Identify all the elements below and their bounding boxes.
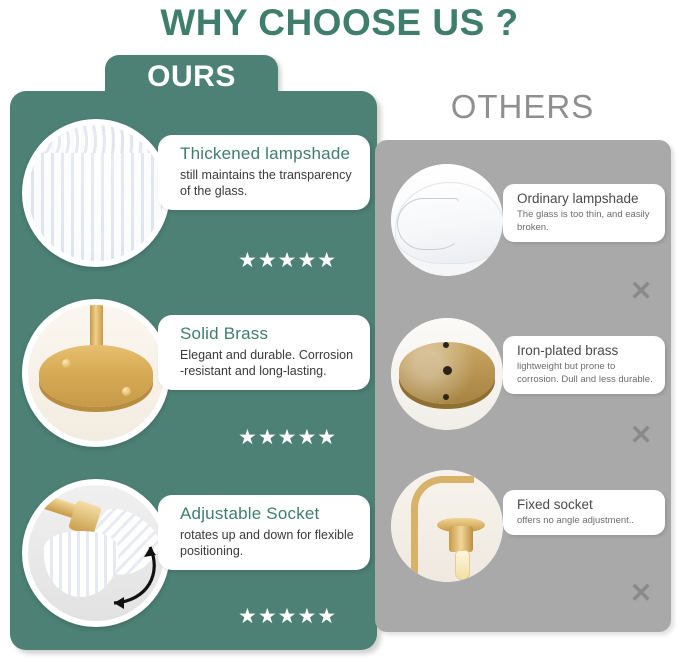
ours-card-2-description: Elegant and durable. Corrosion -resistan…	[180, 347, 357, 379]
ours-card-2: Solid Brass Elegant and durable. Corrosi…	[158, 315, 370, 390]
ours-image-circle-3	[22, 479, 170, 627]
others-card-1-title: Ordinary lampshade	[517, 191, 657, 206]
ours-card-2-title: Solid Brass	[180, 324, 357, 344]
others-card-1: Ordinary lampshade The glass is too thin…	[503, 184, 665, 242]
ours-card-3-title: Adjustable Socket	[180, 504, 357, 524]
others-card-3-description: offers no angle adjustment..	[517, 514, 657, 527]
others-card-2-title: Iron-plated brass	[517, 343, 657, 358]
fluted-white-glass-lampshade-photo	[28, 125, 164, 261]
ours-card-3: Adjustable Socket rotates up and down fo…	[158, 495, 370, 570]
others-card-2-description: lightweight but prone to corrosion. Dull…	[517, 360, 657, 386]
others-card-1-description: The glass is too thin, and easily broken…	[517, 208, 657, 234]
ours-rating-stars-3: ★★★★★	[238, 604, 348, 629]
adjustable-socket-photo	[28, 485, 164, 621]
ours-image-circle-1	[22, 119, 170, 267]
rotation-arrow-icon	[68, 533, 164, 613]
page-title: WHY CHOOSE US ?	[0, 2, 679, 44]
thin-plain-glass-dome-photo	[391, 164, 503, 276]
ours-rating-stars-1: ★★★★★	[238, 248, 348, 273]
others-label: OTHERS	[375, 88, 670, 126]
others-card-3: Fixed socket offers no angle adjustment.…	[503, 490, 665, 535]
others-panel: Ordinary lampshade The glass is too thin…	[375, 140, 671, 632]
x-mark-icon-3: ✕	[628, 580, 654, 606]
x-mark-icon-1: ✕	[628, 278, 654, 304]
others-image-circle-2	[391, 318, 503, 430]
ours-rating-stars-2: ★★★★★	[238, 425, 348, 450]
ours-panel: Thickened lampshade still maintains the …	[10, 91, 377, 650]
ours-card-1-description: still maintains the transparency of the …	[180, 167, 357, 199]
others-card-2: Iron-plated brass lightweight but prone …	[503, 336, 665, 394]
ours-card-1-title: Thickened lampshade	[180, 144, 357, 164]
comparison-infographic: WHY CHOOSE US ? OURS OTHERS Thickened la…	[0, 0, 679, 665]
solid-brass-canopy-photo	[28, 305, 164, 441]
ours-image-circle-2	[22, 299, 170, 447]
fixed-socket-photo	[391, 470, 503, 582]
others-image-circle-3	[391, 470, 503, 582]
iron-plated-brass-canopy-photo	[391, 318, 503, 430]
ours-card-3-description: rotates up and down for flexible positio…	[180, 527, 357, 559]
x-mark-icon-2: ✕	[628, 422, 654, 448]
others-image-circle-1	[391, 164, 503, 276]
others-card-3-title: Fixed socket	[517, 497, 657, 512]
ours-card-1: Thickened lampshade still maintains the …	[158, 135, 370, 210]
